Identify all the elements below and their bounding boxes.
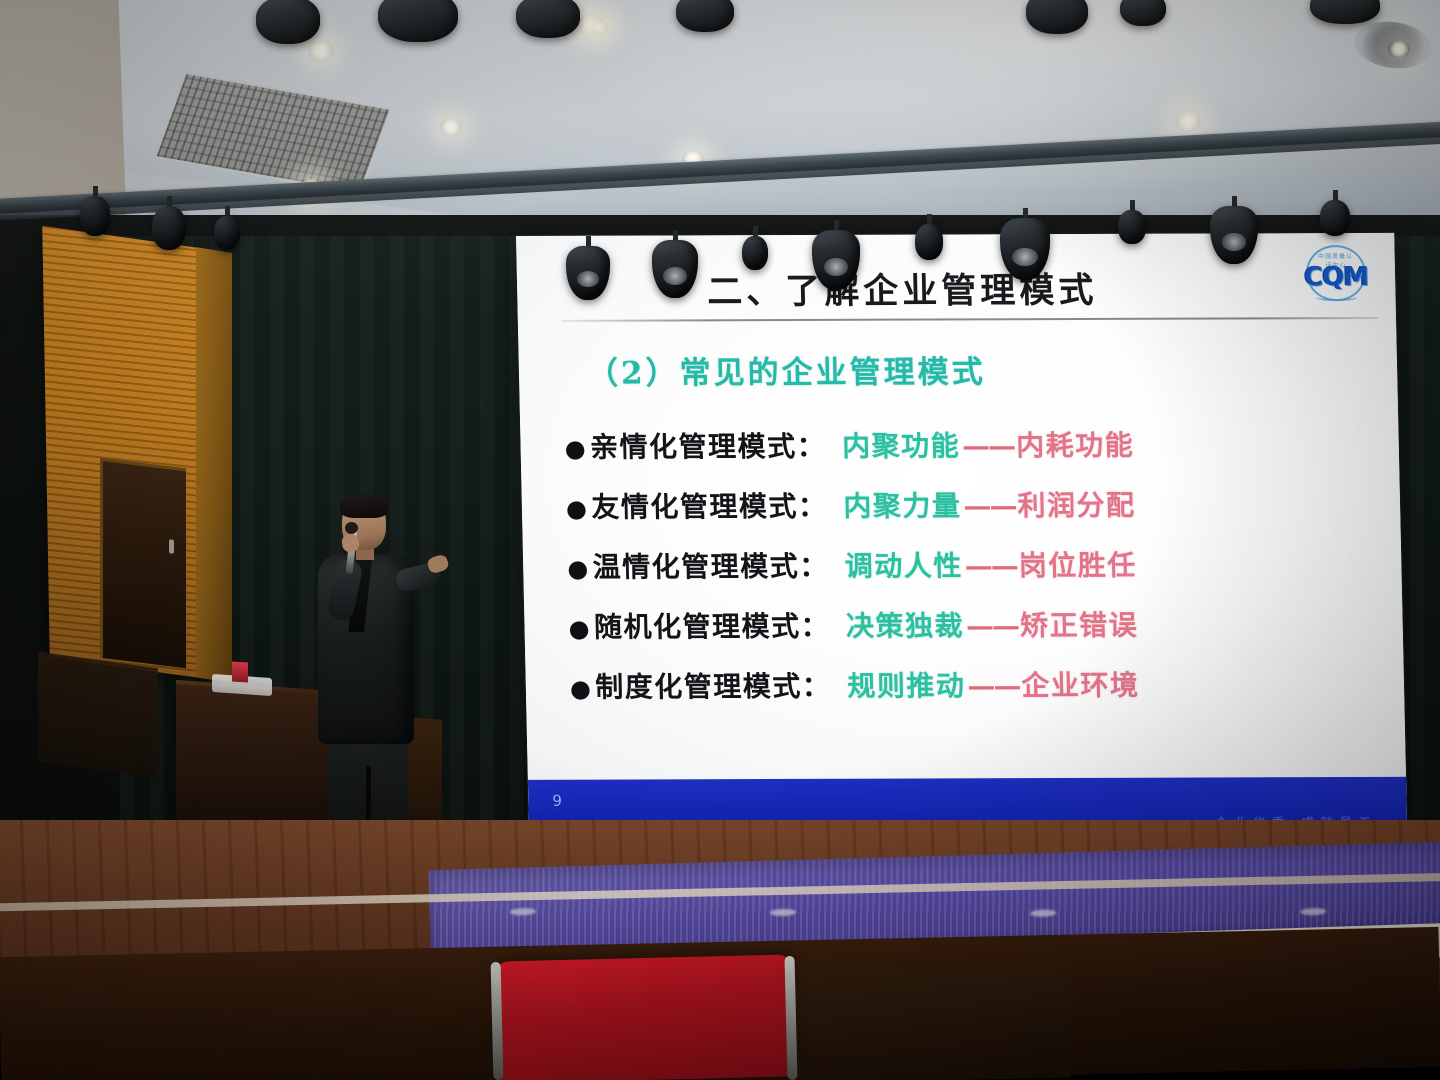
ceiling-downlight [308,40,334,62]
bullet-value-negative: 利润分配 [1017,484,1136,524]
stage-light-fixture [1026,0,1088,24]
ceiling-downlight [1388,40,1410,58]
bullet-list: ● 亲情化管理模式： 内聚功能 —— 内耗功能 ● 友情化管理模式： 内聚力量 … [564,423,1401,726]
bullet-value-positive: 内聚功能 [842,424,961,464]
microphone-head-icon [345,522,358,534]
stage-side-door [100,458,186,669]
auditorium-scene: 二、了解企业管理模式 （2）常见的企业管理模式 ● 亲情化管理模式： 内聚功能 … [0,0,1440,1080]
podium-red-object [232,661,248,682]
moving-head-light [1210,196,1258,254]
ceiling-downlight [1175,110,1201,132]
stage-light-fixture [1310,0,1380,14]
bullet-label: 亲情化管理模式： [590,425,827,466]
bullet-value-positive: 规则推动 [847,664,966,704]
bullet-dash: —— [966,609,1019,642]
projection-screen: 二、了解企业管理模式 （2）常见的企业管理模式 ● 亲情化管理模式： 内聚功能 … [516,233,1407,844]
stage-light-fixture [516,0,580,28]
logo-arc-text: 中国质量认证中心 [1317,251,1355,260]
seat-back-red [494,954,797,1080]
par-can-light [915,214,943,250]
list-item: ● 友情化管理模式： 内聚力量 —— 利润分配 [565,483,1396,526]
presentation-slide: 二、了解企业管理模式 （2）常见的企业管理模式 ● 亲情化管理模式： 内聚功能 … [516,233,1407,844]
bullet-dash: —— [962,429,1015,462]
bullet-value-negative: 内耗功能 [1016,424,1135,464]
presenter-hair [340,494,388,518]
bullet-dot-icon: ● [570,677,593,701]
bullet-value-negative: 岗位胜任 [1018,544,1137,584]
bullet-dot-icon: ● [564,437,587,461]
stage-light-fixture [676,0,734,22]
moving-head-light [812,220,860,280]
ceiling-downlight [440,118,462,136]
list-item: ● 制度化管理模式： 规则推动 —— 企业环境 [569,663,1400,706]
wood-pillar [196,247,232,683]
list-item: ● 温情化管理模式： 调动人性 —— 岗位胜任 [567,543,1398,586]
moving-head-light [566,236,610,290]
stage-light-fixture [1120,0,1166,16]
moving-head-light [1000,208,1050,270]
background-chair [38,652,158,779]
bullet-label: 随机化管理模式： [594,605,831,646]
stage-light-fixture [378,0,458,32]
ceiling-downlight [590,20,608,34]
bullet-dash: —— [967,669,1020,702]
list-item: ● 亲情化管理模式： 内聚功能 —— 内耗功能 [564,423,1395,466]
bullet-dash: —— [964,549,1017,582]
list-item: ● 随机化管理模式： 决策独裁 —— 矫正错误 [568,603,1399,646]
title-divider [562,317,1378,322]
cqm-logo: 中国质量认证中心 CQM [1296,245,1375,303]
bullet-value-negative: 矫正错误 [1020,604,1139,644]
logo-arc-bottom [1315,293,1357,301]
bullet-dot-icon: ● [566,497,589,521]
bullet-value-positive: 调动人性 [844,544,963,584]
par-can-light [742,226,768,260]
stage-light-fixture [256,0,320,34]
bullet-label: 友情化管理模式： [591,485,828,526]
slide-page-number: 9 [552,792,562,810]
par-can-light [152,196,186,240]
logo-wordmark: CQM [1297,262,1376,292]
bullet-label: 温情化管理模式： [592,545,829,586]
door-handle [169,539,174,554]
bullet-value-positive: 决策独裁 [846,604,965,644]
par-can-light [1320,190,1350,226]
par-can-light [80,186,110,226]
par-can-light [214,206,240,240]
slide-subtitle: （2）常见的企业管理模式 [586,346,986,392]
moving-head-light [652,230,698,288]
par-can-light [1118,200,1146,234]
bullet-value-positive: 内聚力量 [843,484,962,524]
bullet-dash: —— [963,489,1016,522]
bullet-label: 制度化管理模式： [595,665,832,706]
bullet-dot-icon: ● [568,617,591,641]
bullet-dot-icon: ● [567,557,590,581]
bullet-value-negative: 企业环境 [1021,664,1140,704]
